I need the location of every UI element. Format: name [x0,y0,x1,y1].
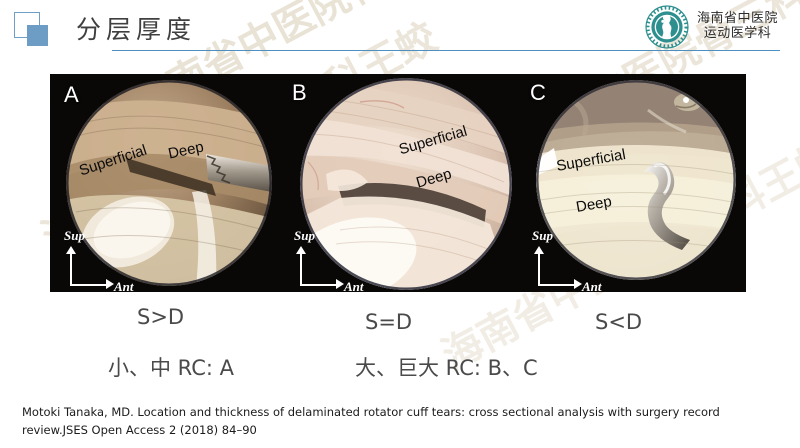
figure-panel-a: A Superficial Deep Sup Ant [50,74,288,292]
caption-symbol-c: S<D [595,310,642,334]
caption-chinese-right: 大、巨大 RC: B、C [355,352,538,382]
arthroscopy-figure-strip: A Superficial Deep Sup Ant [50,74,746,292]
institution-line-2: 运动医学科 [697,27,778,42]
caption-symbol-a: S>D [137,305,184,329]
panel-c-orientation-axes: Sup Ant [532,234,612,286]
slide-root: 分层厚度 海南省中医院 运动医学科 [0,0,800,448]
institution-name: 海南省中医院 运动医学科 [697,12,778,42]
panel-a-axis-sup-label: Sup [64,228,85,244]
panel-letter-b: B [292,80,307,106]
panel-b-axis-vertical [300,252,302,286]
citation-text: Motoki Tanaka, MD. Location and thicknes… [22,404,778,440]
panel-a-axis-vertical [70,252,72,286]
header-divider [112,50,780,51]
figure-panel-c: C Superficial Deep Sup Ant [518,74,746,292]
panel-b-axis-horizontal [300,284,340,286]
panel-a-axis-right-arrow-icon [106,279,114,289]
panel-b-axis-up-arrow-icon [296,246,306,254]
title-decoration-icon [14,12,48,46]
panel-c-axis-right-arrow-icon [574,279,582,289]
panel-b-axis-ant-label: Ant [344,279,364,292]
panel-b-axis-right-arrow-icon [336,279,344,289]
page-title: 分层厚度 [76,10,196,46]
caption-symbol-b: S=D [365,310,412,334]
panel-a-axis-ant-label: Ant [114,279,134,292]
panel-c-axis-ant-label: Ant [582,279,602,292]
panel-c-axis-horizontal [538,284,578,286]
panel-b-orientation-axes: Sup Ant [294,234,374,286]
panel-c-axis-sup-label: Sup [532,228,553,244]
deco-filled-square [27,25,48,46]
hospital-emblem-icon [645,5,689,49]
caption-chinese-left: 小、中 RC: A [108,352,234,382]
panel-c-axis-vertical [538,252,540,286]
institution-logo: 海南省中医院 运动医学科 [645,4,778,50]
panel-b-axis-sup-label: Sup [294,228,315,244]
panel-a-axis-up-arrow-icon [66,246,76,254]
panel-letter-a: A [64,82,79,108]
panel-c-axis-up-arrow-icon [534,246,544,254]
figure-panel-b: B Superficial Deep Sup Ant [288,74,518,292]
panel-letter-c: C [530,80,546,106]
panel-a-orientation-axes: Sup Ant [64,234,144,286]
institution-line-1: 海南省中医院 [697,12,778,27]
slide-header: 分层厚度 海南省中医院 运动医学科 [0,0,800,58]
panel-a-axis-horizontal [70,284,110,286]
